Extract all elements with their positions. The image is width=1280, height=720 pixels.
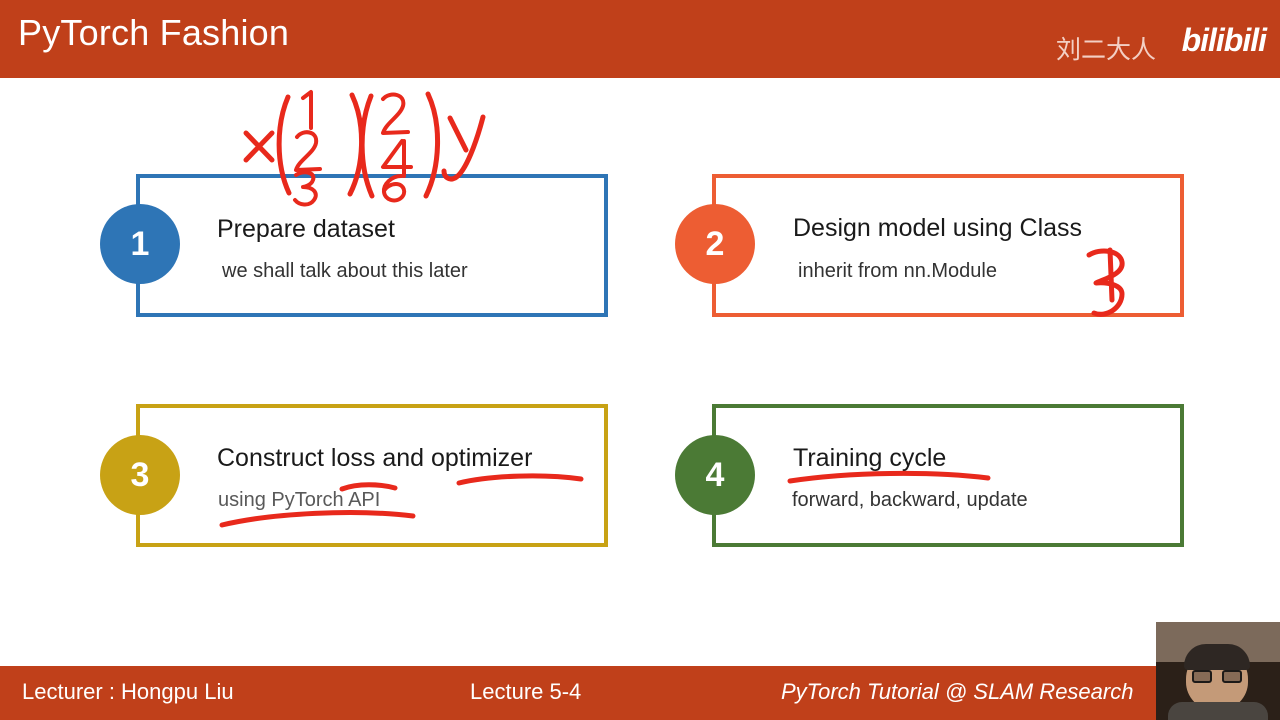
bilibili-logo: bilibili	[1182, 22, 1266, 59]
step-subtitle-2: inherit from nn.Module	[798, 260, 997, 283]
step-box-design-model	[712, 174, 1184, 317]
step-title-1: Prepare dataset	[217, 215, 395, 244]
presenter-torso	[1168, 702, 1268, 720]
channel-name: 刘二大人	[1056, 30, 1156, 66]
footer-lecturer: Lecturer : Hongpu Liu	[22, 679, 234, 705]
step-title-4: Training cycle	[793, 444, 946, 473]
step-number-badge-1: 1	[100, 204, 180, 284]
step-subtitle-4: forward, backward, update	[792, 489, 1028, 512]
step-number-badge-4: 4	[675, 435, 755, 515]
step-box-prepare-dataset	[136, 174, 608, 317]
step-number-badge-3: 3	[100, 435, 180, 515]
slide-footer-bar: Lecturer : Hongpu Liu Lecture 5-4 PyTorc…	[0, 666, 1280, 720]
step-title-3: Construct loss and optimizer	[217, 444, 532, 473]
footer-course-title: PyTorch Tutorial @ SLAM Research	[781, 679, 1133, 705]
step-number-badge-2: 2	[675, 204, 755, 284]
step-box-training-cycle	[712, 404, 1184, 547]
step-subtitle-1: we shall talk about this later	[222, 260, 468, 283]
step-title-2: Design model using Class	[793, 214, 1082, 243]
glasses-left-lens	[1192, 670, 1212, 683]
ink-y-label	[444, 117, 483, 179]
ink-annotation-layer	[0, 0, 1280, 720]
presenter-hair	[1184, 644, 1250, 670]
step-subtitle-3: using PyTorch API	[218, 489, 380, 512]
glasses-icon	[1192, 670, 1242, 683]
step-box-construct-loss	[136, 404, 608, 547]
glasses-right-lens	[1222, 670, 1242, 683]
page-title: PyTorch Fashion	[18, 12, 289, 54]
ink-x-label	[246, 133, 272, 160]
presenter-webcam[interactable]	[1156, 622, 1280, 720]
footer-lecture-number: Lecture 5-4	[470, 679, 581, 705]
slide-header-bar: PyTorch Fashion 刘二大人 bilibili	[0, 0, 1280, 78]
